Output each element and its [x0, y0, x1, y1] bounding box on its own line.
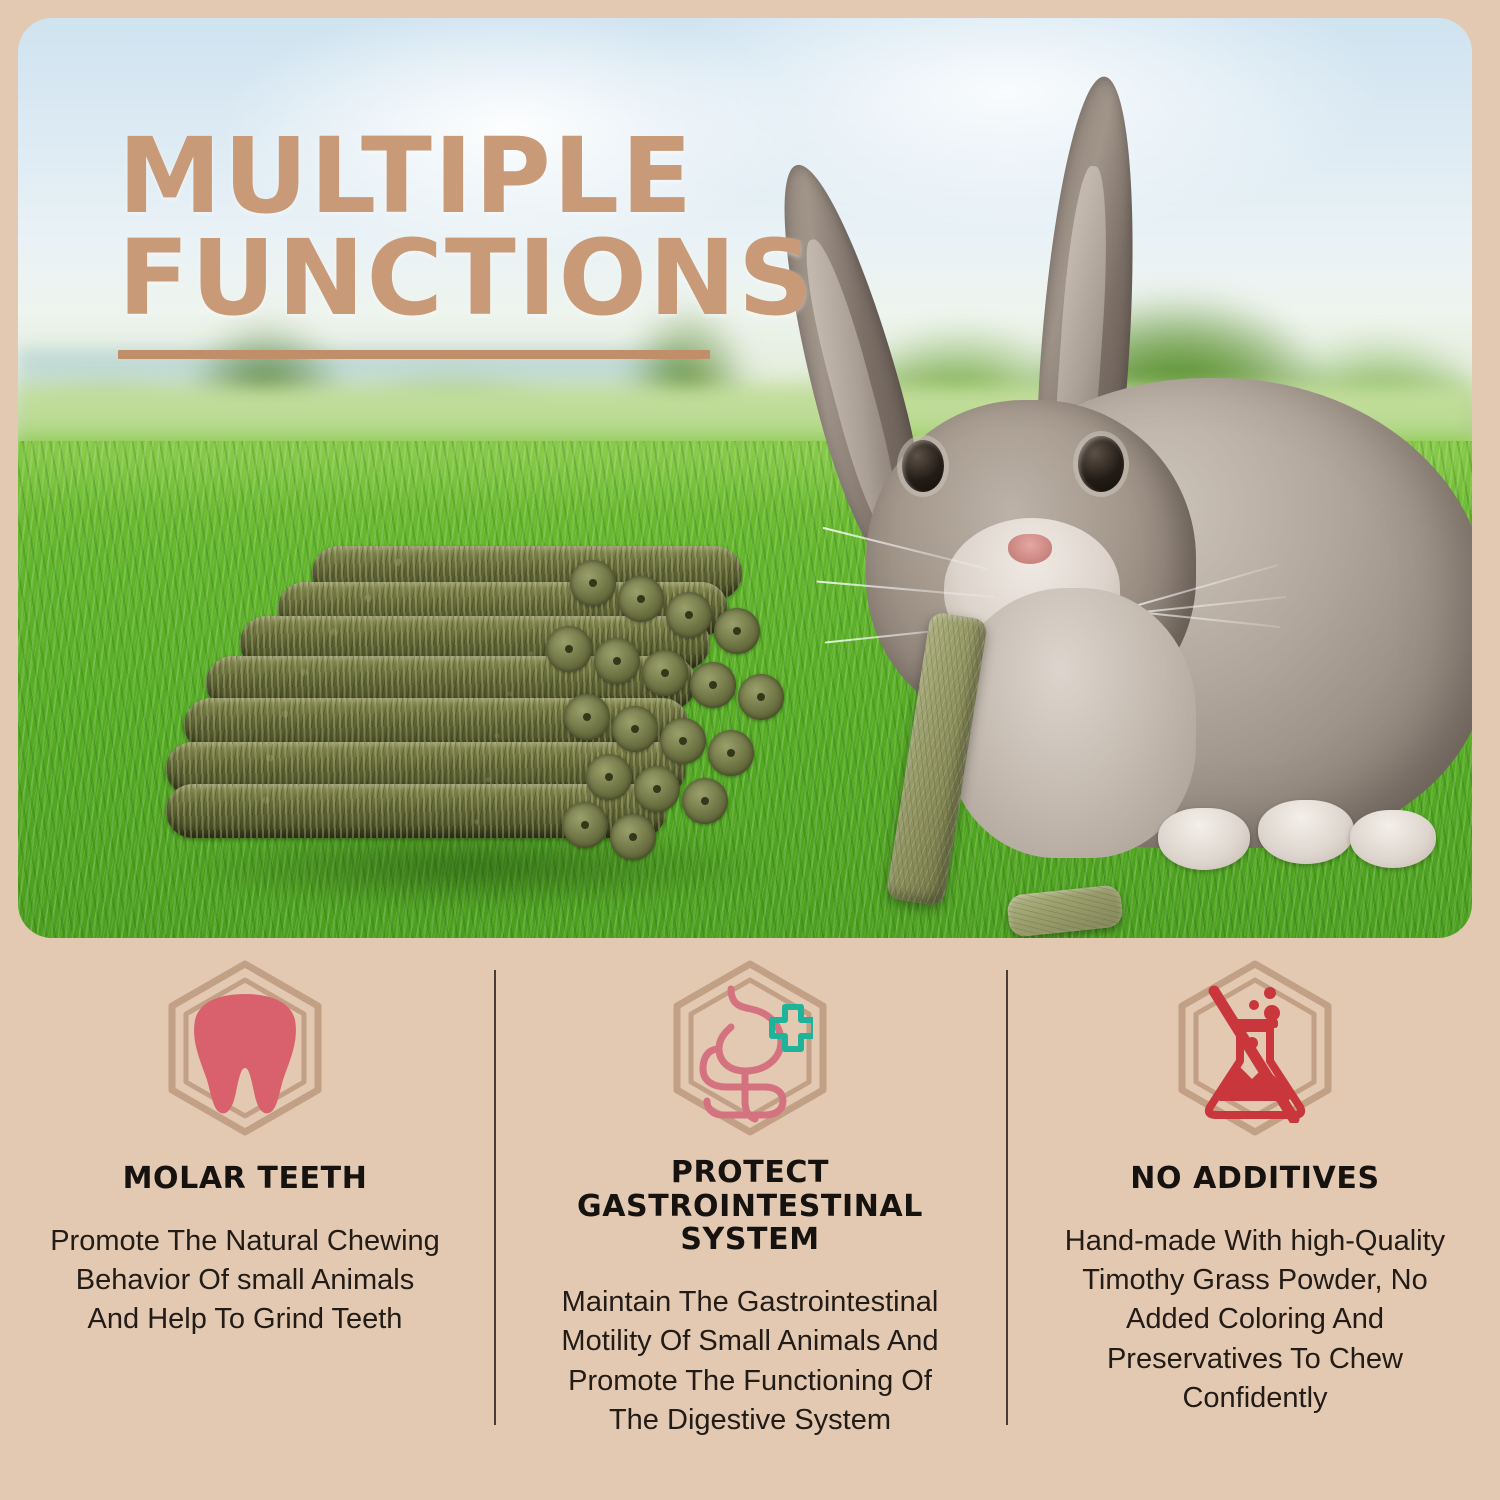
feature-body-line: Timothy Grass Powder, No	[1029, 1261, 1481, 1300]
hay-stick-end	[618, 576, 664, 622]
feature-body-line: Behavior Of small Animals	[19, 1261, 471, 1300]
feature-title-gastrointestinal: PROTECT GASTROINTESTINAL SYSTEM	[510, 1156, 990, 1257]
column-divider-1	[494, 970, 496, 1425]
feature-body-line: Maintain The Gastrointestinal	[524, 1283, 976, 1322]
feature-body-line: And Help To Grind Teeth	[19, 1300, 471, 1339]
feature-column-no-additives: NO ADDITIVES Hand-made With high-Quality…	[1015, 940, 1495, 1419]
rabbit-photo	[758, 48, 1472, 908]
feature-body-line: Motility Of Small Animals And	[524, 1322, 976, 1361]
hay-stick-end	[612, 706, 658, 752]
hay-stick-end	[660, 718, 706, 764]
hay-stick-end	[562, 802, 608, 848]
feature-body-gastrointestinal: Maintain The Gastrointestinal Motility O…	[510, 1283, 990, 1441]
hay-stick-end	[586, 754, 632, 800]
feature-column-gastrointestinal: PROTECT GASTROINTESTINAL SYSTEM Maintain…	[510, 940, 990, 1441]
hay-stick-end	[666, 592, 712, 638]
hay-stick-end	[708, 730, 754, 776]
hay-stick-stack	[166, 546, 786, 926]
hay-stick-end	[714, 608, 760, 654]
hay-stick-end	[690, 662, 736, 708]
feature-column-molar-teeth: MOLAR TEETH Promote The Natural Chewing …	[5, 940, 485, 1340]
hay-stick-end	[610, 814, 656, 860]
rabbit-paw-far	[1350, 810, 1436, 868]
hay-stick-end	[564, 694, 610, 740]
feature-title-molar-teeth: MOLAR TEETH	[5, 1162, 485, 1196]
hay-stick-end	[634, 766, 680, 812]
hero-photo-panel: MULTIPLE FUNCTIONS	[18, 18, 1472, 938]
hero-title-line-2: FUNCTIONS	[118, 228, 815, 330]
hay-stick-end	[570, 560, 616, 606]
rabbit-paw-right	[1258, 800, 1354, 864]
rabbit-eye-right	[1078, 436, 1124, 492]
feature-body-no-additives: Hand-made With high-Quality Timothy Gras…	[1015, 1222, 1495, 1419]
feature-body-line: Promote The Functioning Of	[524, 1362, 976, 1401]
tooth-icon	[150, 958, 340, 1148]
feature-body-molar-teeth: Promote The Natural Chewing Behavior Of …	[5, 1222, 485, 1340]
feature-body-line: The Digestive System	[524, 1401, 976, 1440]
feature-title-no-additives: NO ADDITIVES	[1015, 1162, 1495, 1196]
column-divider-2	[1006, 970, 1008, 1425]
rabbit-paw-left	[1158, 808, 1250, 870]
rabbit-eye-left	[902, 440, 944, 492]
hay-stick-end	[546, 626, 592, 672]
rabbit-nose	[1008, 534, 1052, 564]
hero-title-underline	[118, 350, 710, 359]
feature-body-line: Preservatives To Chew	[1029, 1340, 1481, 1379]
feature-title-line: GASTROINTESTINAL SYSTEM	[510, 1190, 990, 1257]
feature-body-line: Hand-made With high-Quality	[1029, 1222, 1481, 1261]
feature-title-line: PROTECT	[510, 1156, 990, 1190]
gastrointestinal-icon	[655, 958, 845, 1148]
feature-section: MOLAR TEETH Promote The Natural Chewing …	[0, 940, 1500, 1500]
stomach-intestine-glyph	[687, 983, 813, 1123]
tooth-glyph	[185, 988, 305, 1118]
feature-body-line: Promote The Natural Chewing	[19, 1222, 471, 1261]
product-infographic: MULTIPLE FUNCTIONS	[0, 0, 1500, 1500]
flask-glyph	[1190, 983, 1320, 1123]
feature-body-line: Confidently	[1029, 1379, 1481, 1418]
hay-stick-end	[594, 638, 640, 684]
hero-title-block: MULTIPLE FUNCTIONS	[118, 126, 815, 359]
hay-stick-end	[682, 778, 728, 824]
feature-body-line: Added Coloring And	[1029, 1300, 1481, 1339]
hay-stick-end	[642, 650, 688, 696]
hero-title-line-1: MULTIPLE	[118, 126, 815, 228]
no-additives-flask-icon	[1160, 958, 1350, 1148]
